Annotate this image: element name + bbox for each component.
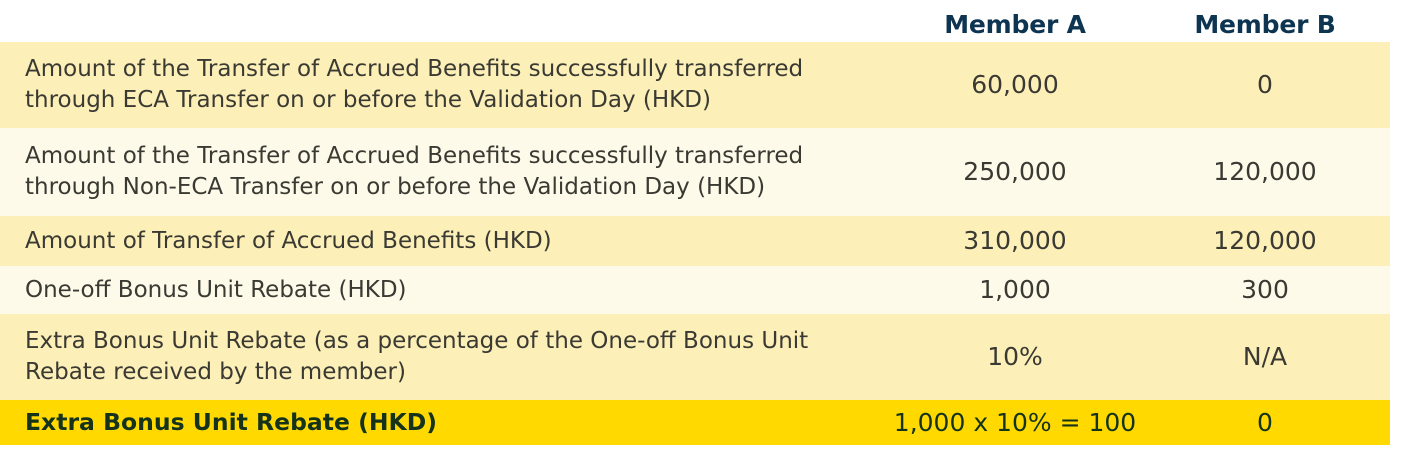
row-label: Extra Bonus Unit Rebate (as a percentage… [0, 326, 890, 387]
table-row: Extra Bonus Unit Rebate (as a percentage… [0, 314, 1390, 400]
row-value-member-a: 1,000 x 10% = 100 [890, 408, 1140, 438]
row-value-member-b: 0 [1140, 408, 1390, 438]
table-header-row: Member A Member B [0, 0, 1405, 42]
row-value-member-a: 310,000 [890, 226, 1140, 256]
table-row: Amount of the Transfer of Accrued Benefi… [0, 128, 1390, 216]
row-value-member-a: 1,000 [890, 275, 1140, 305]
member-comparison-table: Member A Member B Amount of the Transfer… [0, 0, 1405, 451]
row-value-member-b: 300 [1140, 275, 1390, 305]
row-value-member-a: 10% [890, 342, 1140, 372]
table-row: One-off Bonus Unit Rebate (HKD) 1,000 30… [0, 266, 1390, 314]
table-row: Amount of the Transfer of Accrued Benefi… [0, 42, 1390, 128]
row-value-member-b: 0 [1140, 70, 1390, 100]
column-header-member-a: Member A [890, 12, 1140, 42]
row-label: Extra Bonus Unit Rebate (HKD) [0, 407, 890, 438]
row-label: One-off Bonus Unit Rebate (HKD) [0, 275, 890, 306]
row-value-member-b: N/A [1140, 342, 1390, 372]
row-label: Amount of the Transfer of Accrued Benefi… [0, 54, 890, 115]
row-value-member-b: 120,000 [1140, 157, 1390, 187]
row-value-member-a: 60,000 [890, 70, 1140, 100]
row-value-member-a: 250,000 [890, 157, 1140, 187]
table-row-total: Extra Bonus Unit Rebate (HKD) 1,000 x 10… [0, 400, 1390, 445]
row-label: Amount of the Transfer of Accrued Benefi… [0, 141, 890, 202]
table-row: Amount of Transfer of Accrued Benefits (… [0, 216, 1390, 266]
row-label: Amount of Transfer of Accrued Benefits (… [0, 226, 890, 257]
row-value-member-b: 120,000 [1140, 226, 1390, 256]
column-header-member-b: Member B [1140, 12, 1390, 42]
